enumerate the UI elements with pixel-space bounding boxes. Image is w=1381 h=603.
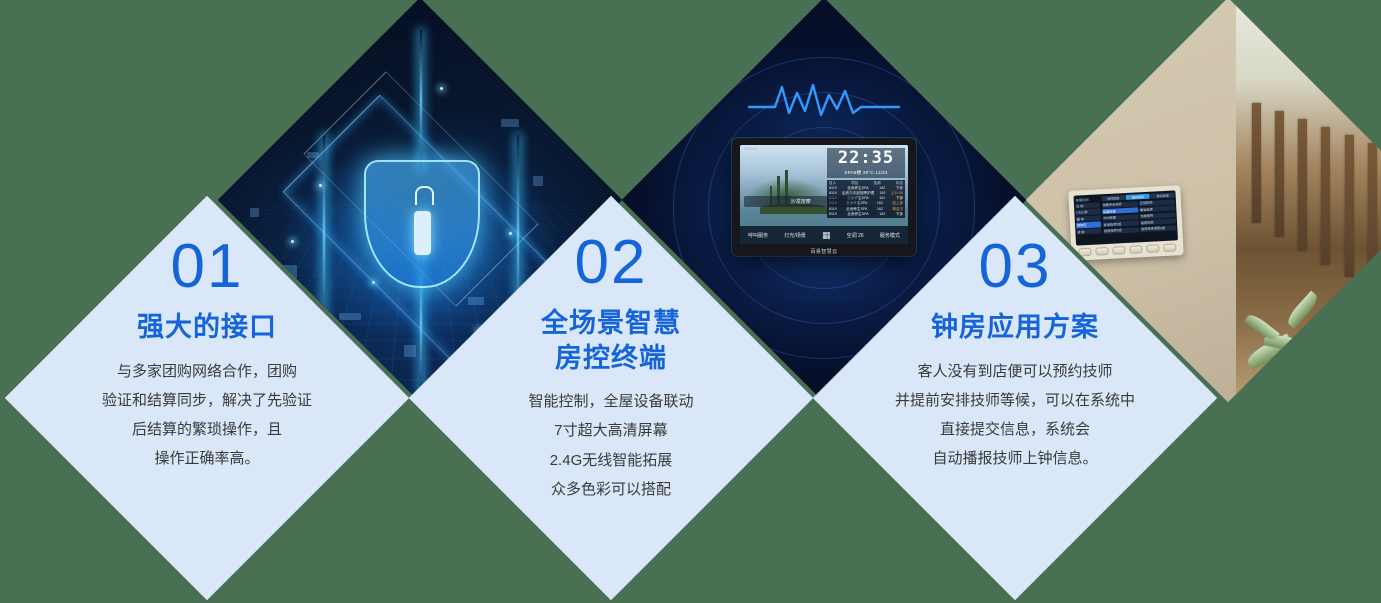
tablet-screen: CSi280 22:35 SPA6楼 26°C 11/24 技人 项目 技师 状… [740,145,908,244]
clock-time: 22:35 [827,148,905,169]
screen-bottom-bar[interactable]: 呼叫服务 灯光/场景 ▦ 空调 26 服务模式 [740,226,908,244]
panel-button[interactable] [1113,246,1126,255]
screen-brand-top: CSi280 [744,146,757,151]
table-row: 8119 全身养生SPA 162 下钟 [829,212,903,217]
room-control-tablet: CSi280 22:35 SPA6楼 26°C 11/24 技人 项目 技师 状… [732,138,916,256]
panel-left-item[interactable]: 选 钟 [1077,228,1102,234]
panel-screen: 客服控制 点 钟 CALL钟 圈 钟 换钟区 选 钟 技师管理 服务项目 房间管… [1074,190,1178,245]
panel-tab[interactable]: 服务项目 [1126,194,1150,200]
panel-tab[interactable]: 技师管理 [1102,195,1126,201]
panel-button[interactable] [1164,243,1177,252]
panel-button[interactable] [1096,247,1109,256]
cell: 162 [879,212,885,217]
panel-hardware-buttons[interactable] [1077,243,1179,256]
card-body: 智能控制，全屋设备联动 7寸超大高清屏幕 2.4G无线智能拓展 众多色彩可以搭配 [528,387,693,504]
panel-right-column: 技师管理 服务项目 房间管理 保健专业技师 保健经理 SPA经理 客房技师2组 [1100,190,1178,244]
home-grid-icon[interactable]: ▦ [822,230,831,241]
panel-left-item[interactable]: 圈 钟 [1076,215,1101,221]
panel-left-item[interactable]: CALL钟 [1076,209,1101,215]
card-title: 钟房应用方案 [931,310,1099,345]
cell: 全身养生SPA [847,212,868,217]
panel-list-item[interactable]: 客房技师3组 [1103,227,1139,234]
card-body: 客人没有到店便可以预约技师 并提前安排技师等候，可以在系统中 直接提交信息，系统… [895,357,1135,474]
panel-list-item[interactable]: 客房技师调配2组 [1140,225,1176,232]
panel-button[interactable] [1130,245,1143,254]
cell: 下钟 [896,212,903,217]
card-title: 全场景智慧 房控终端 [541,306,681,375]
card-number: 03 [979,236,1052,298]
panel-list-grid: 保健专业技师 保健经理 SPA经理 客房技师2组 客房技师3组 正班技师 散钟技… [1102,199,1177,235]
media-control-strip[interactable]: 沙发按摩 [744,196,858,207]
panel-list-item[interactable]: 保健经理 [1102,207,1138,214]
panel-left-item[interactable]: 换钟区 [1076,222,1101,228]
panel-left-column: 客服控制 点 钟 CALL钟 圈 钟 换钟区 选 钟 [1074,194,1103,245]
heartbeat-pulse-icon [749,79,899,121]
panel-tab[interactable]: 房间管理 [1151,192,1175,198]
card-number: 01 [171,236,244,298]
clock-meta: SPA6楼 26°C 11/24 [827,169,905,178]
panel-list-item[interactable]: 散钟技师 [1139,205,1175,212]
panel-button[interactable] [1079,248,1092,257]
bottom-bar-item[interactable]: 空调 26 [847,232,864,239]
panel-list-item[interactable]: 客房技师2组 [1103,220,1139,227]
bottom-bar-item[interactable]: 呼叫服务 [748,232,768,239]
diamond-feature-section: CSi280 22:35 SPA6楼 26°C 11/24 技人 项目 技师 状… [0,0,1381,603]
card-body: 与多家团购网络合作，团购 验证和结算同步，解决了先验证 后结算的繁琐操作，且 操… [102,357,312,474]
card-number: 02 [575,232,648,294]
device-brand-label: 百易智慧云 [732,248,916,255]
wall-control-panel[interactable]: 客服控制 点 钟 CALL钟 圈 钟 换钟区 选 钟 技师管理 服务项目 房间管… [1069,185,1185,261]
bottom-bar-item[interactable]: 服务模式 [880,232,900,239]
ctrl-label: 沙发按摩 [791,198,811,205]
card-title: 强大的接口 [137,310,277,345]
panel-button[interactable] [1147,244,1160,253]
panel-left-item[interactable]: 点 钟 [1075,202,1100,208]
clock-widget: 22:35 SPA6楼 26°C 11/24 技人 项目 技师 状态 [827,148,905,218]
bottom-bar-item[interactable]: 灯光/场景 [784,232,805,239]
panel-list-item[interactable]: 客房技师 [1140,218,1176,225]
cell: 8119 [829,212,837,217]
corridor-background [1236,0,1381,402]
